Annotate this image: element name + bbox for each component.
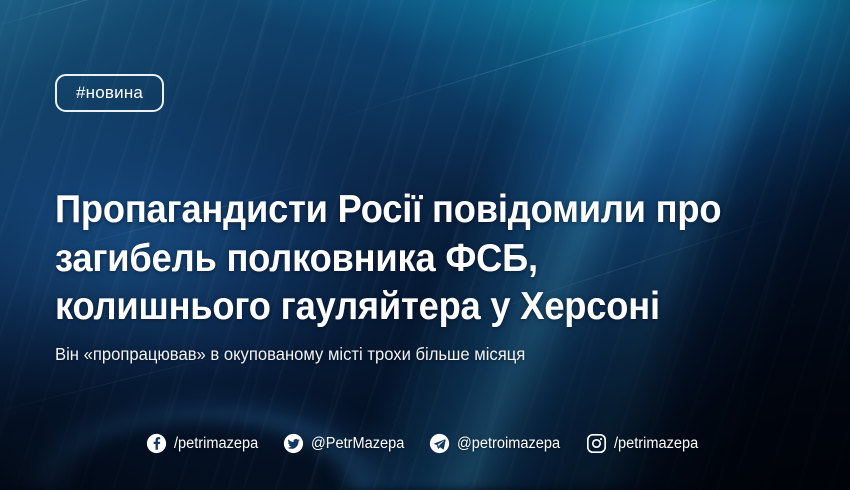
social-handle-twitter: @PetrMazepa: [311, 436, 404, 452]
subtitle: Він «пропрацював» в окупованому місті тр…: [55, 343, 777, 366]
telegram-icon: [429, 433, 450, 454]
card-content: #новина Пропагандисти Росії повідомили п…: [0, 0, 850, 490]
page-title: Пропагандисти Росії повідомили про загиб…: [55, 186, 743, 332]
social-handle-telegram: @petroimazepa: [457, 436, 560, 452]
social-link-twitter[interactable]: @PetrMazepa: [283, 433, 410, 454]
social-link-instagram[interactable]: /petrimazepa: [586, 433, 704, 454]
social-links-bar: /petrimazepa @PetrMazepa: [0, 433, 850, 454]
instagram-icon: [586, 433, 607, 454]
news-card: #новина Пропагандисти Росії повідомили п…: [0, 0, 850, 490]
twitter-icon: [283, 433, 304, 454]
social-link-facebook[interactable]: /petrimazepa: [146, 433, 264, 454]
social-link-telegram[interactable]: @petroimazepa: [429, 433, 567, 454]
category-badge[interactable]: #новина: [55, 74, 164, 112]
social-handle-instagram: /petrimazepa: [614, 436, 698, 452]
social-handle-facebook: /petrimazepa: [174, 436, 258, 452]
facebook-icon: [146, 433, 167, 454]
